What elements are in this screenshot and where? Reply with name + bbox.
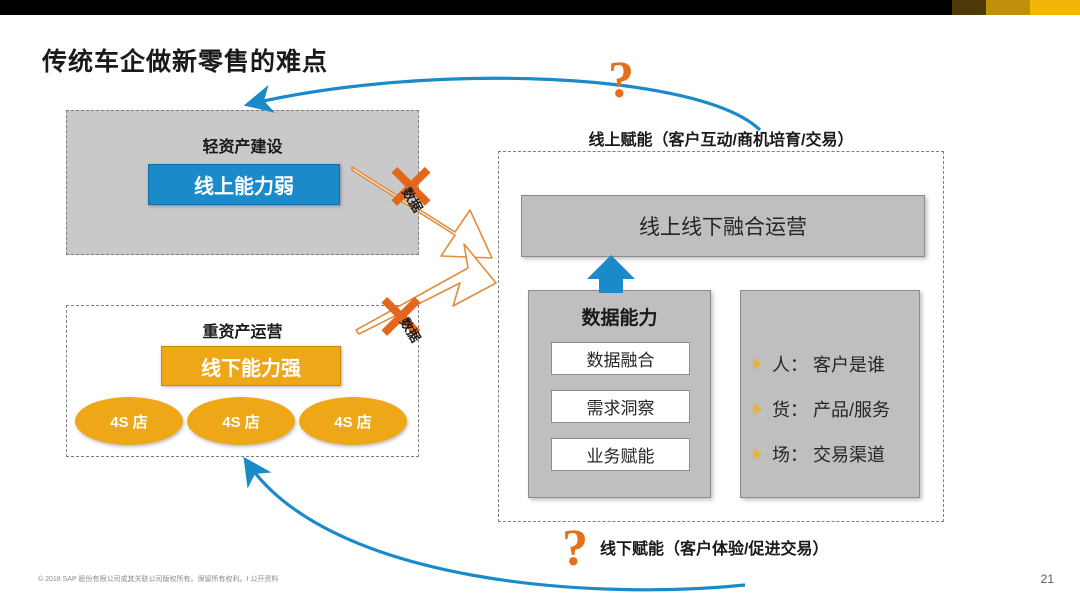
copyright-footer: © 2018 SAP 股份有限公司或其关联公司版权所有。保留所有权利。I 公开资… [38,574,278,584]
offline-capability-strong-box: 线下能力强 [161,346,341,386]
bullet-row: 场： 交易渠道 [753,441,885,467]
store-ellipse: 4S 店 [75,397,183,445]
data-capability-title: 数据能力 [529,303,710,330]
gold-accent-bar-1 [952,0,986,15]
panel-light-asset: 轻资产建设 线上能力弱 [66,110,419,255]
gold-accent-bar-2 [986,0,1030,15]
panel-online-offline-fusion: 线上线下融合运营 数据能力 数据融合 需求洞察 业务赋能 人： 客户是谁 货： … [498,151,944,522]
bullet-row: 货： 产品/服务 [753,396,890,422]
capability-item: 业务赋能 [551,438,690,471]
offline-enablement-heading: 线下赋能（客户体验/促进交易） [600,535,828,559]
triangle-bullet-icon [753,403,762,415]
bullet-label: 场： 交易渠道 [772,441,885,467]
bullet-row: 人： 客户是谁 [753,351,885,377]
question-mark-icon-bottom: ? [562,523,588,575]
slide-canvas: 传统车企做新零售的难点 轻资产建设 线上能力弱 重资产运营 线下能力强 4S 店… [0,0,1080,603]
top-black-bar [0,0,1080,15]
triangle-bullet-icon [753,358,762,370]
triangle-bullet-icon [753,448,762,460]
panel-heavy-asset: 重资产运营 线下能力强 4S 店 4S 店 4S 店 [66,305,419,457]
store-ellipse: 4S 店 [187,397,295,445]
data-capability-box: 数据能力 数据融合 需求洞察 业务赋能 [528,290,711,498]
capability-item: 需求洞察 [551,390,690,423]
question-mark-icon-top: ? [608,55,634,107]
page-number: 21 [1041,572,1054,586]
panel-heavy-asset-heading: 重资产运营 [67,318,418,342]
store-ellipse: 4S 店 [299,397,407,445]
gold-accent-bar-3 [1030,0,1080,15]
online-enablement-heading: 线上赋能（客户互动/商机培育/交易） [498,126,944,150]
people-goods-place-box: 人： 客户是谁 货： 产品/服务 场： 交易渠道 [740,290,920,498]
bullet-label: 人： 客户是谁 [772,351,885,377]
panel-light-asset-heading: 轻资产建设 [67,133,418,157]
online-capability-weak-box: 线上能力弱 [148,164,340,205]
fusion-operations-box: 线上线下融合运营 [521,195,925,257]
capability-item: 数据融合 [551,342,690,375]
bullet-label: 货： 产品/服务 [772,396,890,422]
page-title: 传统车企做新零售的难点 [42,42,328,78]
